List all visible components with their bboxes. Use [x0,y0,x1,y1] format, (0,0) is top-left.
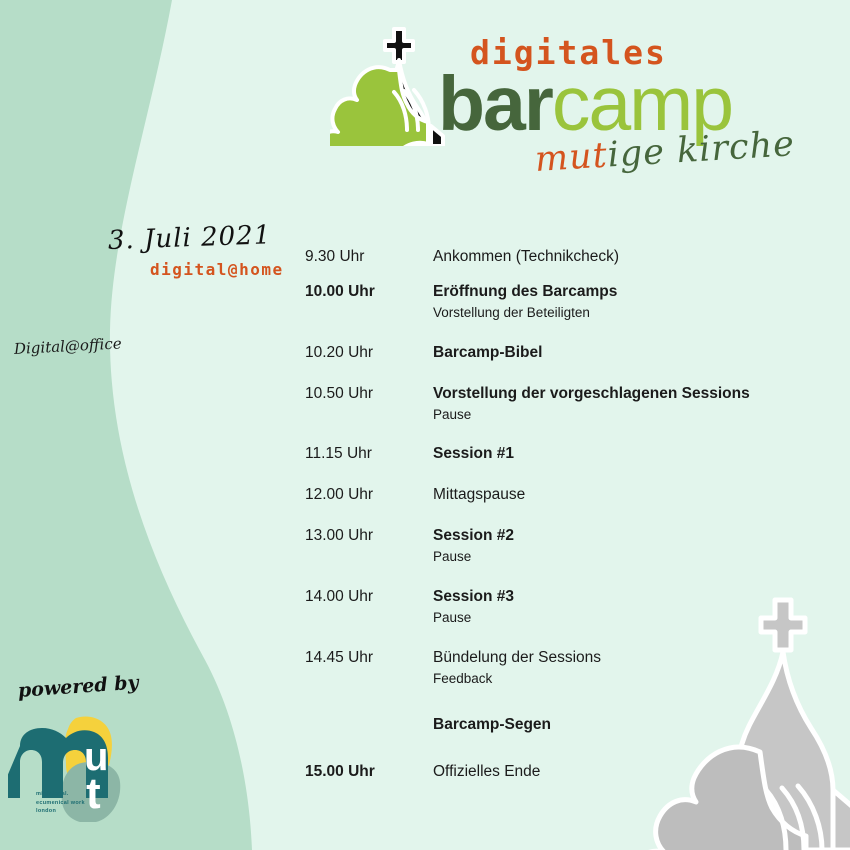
schedule-detail: Eröffnung des BarcampsVorstellung der Be… [430,282,825,323]
schedule-row: 10.50 UhrVorstellung der vorgeschlagenen… [305,384,825,425]
schedule-detail: Bündelung der SessionsFeedback [430,648,825,689]
schedule-time: 10.20 Uhr [305,343,430,364]
schedule-time: 10.50 Uhr [305,384,430,405]
schedule-time: 14.45 Uhr [305,648,430,669]
schedule-list: 9.30 UhrAnkommen (Technikcheck)10.00 Uhr… [305,247,825,797]
schedule-detail: Session #2Pause [430,526,825,567]
mut-letter-u: u [84,735,108,779]
schedule-row: 10.00 UhrEröffnung des BarcampsVorstellu… [305,282,825,323]
schedule-row: 15.00 UhrOffizielles Ende [305,762,825,783]
schedule-title: Bündelung der Sessions [433,648,825,669]
schedule-row: 9.30 UhrAnkommen (Technikcheck) [305,247,825,268]
schedule-title: Vorstellung der vorgeschlagenen Sessions [433,384,825,405]
schedule-row: 13.00 UhrSession #2Pause [305,526,825,567]
schedule-subtitle: Pause [433,609,825,628]
event-location: digital@home [150,260,308,279]
schedule-row: Barcamp-Segen [305,715,825,736]
schedule-subtitle: Pause [433,548,825,567]
schedule-row: 10.20 UhrBarcamp-Bibel [305,343,825,364]
mut-subtext-line-1: ministerial. [36,790,85,799]
schedule-title: Mittagspause [433,485,825,506]
barcamp-logo: digitales barcamp mutige kirche [330,18,830,193]
schedule-detail: Mittagspause [430,485,825,506]
schedule-time: 9.30 Uhr [305,247,430,268]
schedule-time: 13.00 Uhr [305,526,430,547]
schedule-detail: Session #1 [430,444,825,465]
schedule-subtitle: Pause [433,406,825,425]
schedule-detail: Vorstellung der vorgeschlagenen Sessions… [430,384,825,425]
event-date: 3. Juli 2021 [107,219,308,256]
church-flame-logo-icon [330,26,450,146]
schedule-time: 12.00 Uhr [305,485,430,506]
schedule-detail: Barcamp-Segen [430,715,825,736]
schedule-time: 11.15 Uhr [305,444,430,465]
schedule-subtitle: Vorstellung der Beteiligten [433,304,825,323]
mut-subtext-line-3: london [36,807,85,816]
logo-bar-text: bar [438,61,552,147]
schedule-title: Eröffnung des Barcamps [433,282,825,303]
schedule-title: Ankommen (Technikcheck) [433,247,825,268]
poster-canvas: digitales barcamp mutige kirche 3. Juli … [0,0,850,850]
schedule-time: 14.00 Uhr [305,587,430,608]
schedule-time: 10.00 Uhr [305,282,430,303]
mut-logo-subtext: ministerial. ecumenical work london [36,790,85,816]
schedule-title: Session #1 [433,444,825,465]
schedule-time: 15.00 Uhr [305,762,430,783]
schedule-detail: Offizielles Ende [430,762,825,783]
schedule-detail: Barcamp-Bibel [430,343,825,364]
schedule-row: 12.00 UhrMittagspause [305,485,825,506]
schedule-title: Session #3 [433,587,825,608]
schedule-row: 11.15 UhrSession #1 [305,444,825,465]
schedule-detail: Ankommen (Technikcheck) [430,247,825,268]
schedule-detail: Session #3Pause [430,587,825,628]
schedule-title: Offizielles Ende [433,762,825,783]
mut-subtext-line-2: ecumenical work [36,799,85,808]
schedule-title: Session #2 [433,526,825,547]
schedule-title: Barcamp-Bibel [433,343,825,364]
schedule-row: 14.45 UhrBündelung der SessionsFeedback [305,648,825,689]
tagline-mut-text: mut [534,136,609,180]
schedule-title: Barcamp-Segen [433,715,825,736]
schedule-row: 14.00 UhrSession #3Pause [305,587,825,628]
event-date-block: 3. Juli 2021 digital@home [108,226,308,279]
schedule-subtitle: Feedback [433,670,825,689]
